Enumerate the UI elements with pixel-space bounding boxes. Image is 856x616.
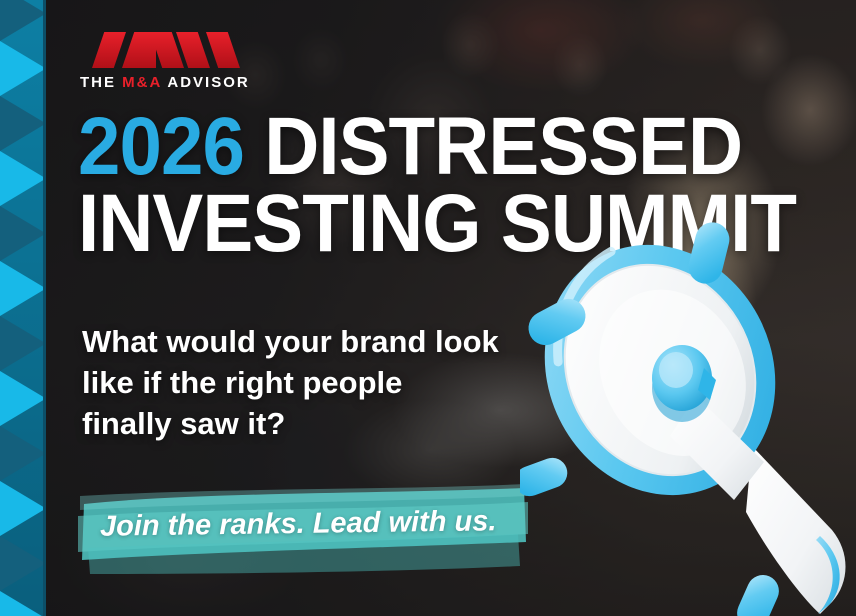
floating-pill (520, 454, 572, 501)
headline-line-1: 2026 DISTRESSED (78, 108, 673, 185)
promo-banner: THE M&A ADVISOR 2026 DISTRESSED INVESTIN… (0, 0, 856, 616)
cta-label: Join the ranks. Lead with us. (100, 505, 497, 544)
logo-word-ma: M&A (122, 74, 162, 91)
megaphone-illustration (520, 200, 856, 616)
cta-banner[interactable]: Join the ranks. Lead with us. (78, 482, 528, 574)
megaphone-icon (520, 200, 856, 616)
logo-word-the: THE (80, 74, 122, 91)
floating-pill (732, 570, 784, 616)
logo-word-advisor: ADVISOR (162, 74, 250, 91)
subcopy-line-1: What would your brand look (82, 322, 552, 363)
logo-mark-icon (88, 32, 240, 68)
chevron-strip (0, 0, 46, 616)
subcopy-line-3: finally saw it? (82, 404, 552, 445)
subcopy-line-2: like if the right people (82, 363, 552, 404)
brand-logo[interactable]: THE M&A ADVISOR (80, 32, 248, 90)
chevron-strip-edge (43, 0, 46, 616)
subcopy-block: What would your brand look like if the r… (82, 322, 552, 445)
logo-wordmark: THE M&A ADVISOR (80, 74, 248, 91)
